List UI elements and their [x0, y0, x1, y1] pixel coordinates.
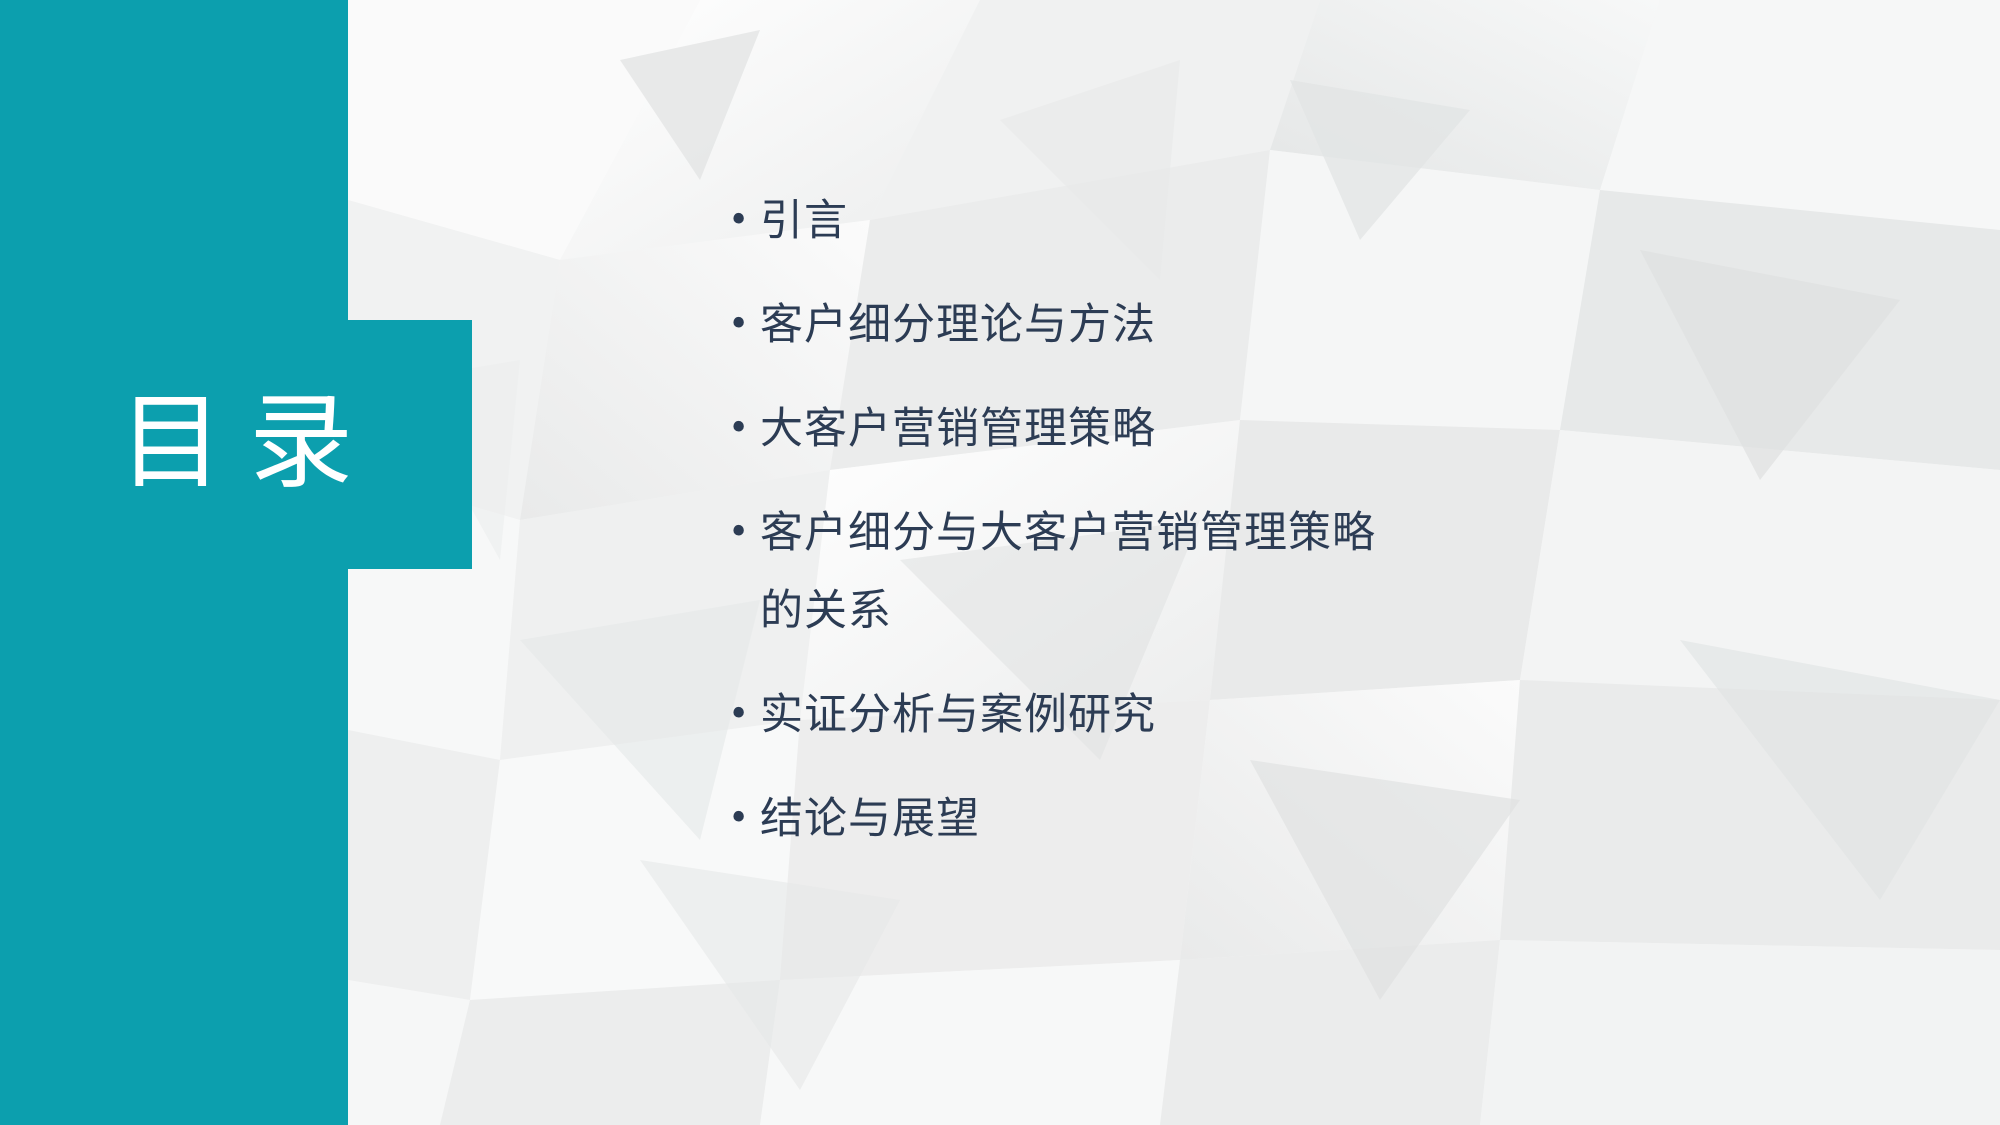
- bullet-icon: •: [728, 676, 760, 754]
- bullet-icon: •: [728, 286, 760, 364]
- bullet-icon: •: [728, 182, 760, 260]
- toc-item[interactable]: • 客户细分理论与方法: [728, 286, 1408, 364]
- toc-item[interactable]: • 结论与展望: [728, 780, 1408, 858]
- page-title-text: 目录: [93, 390, 379, 494]
- toc-item-label: 引言: [760, 182, 1408, 260]
- toc-item[interactable]: • 客户细分与大客户营销管理策略的关系: [728, 494, 1408, 650]
- table-of-contents: • 引言 • 客户细分理论与方法 • 大客户营销管理策略 • 客户细分与大客户营…: [728, 182, 1408, 884]
- toc-item-label: 客户细分与大客户营销管理策略的关系: [760, 494, 1408, 650]
- toc-item-label: 客户细分理论与方法: [760, 286, 1408, 364]
- toc-item[interactable]: • 引言: [728, 182, 1408, 260]
- toc-item-label: 实证分析与案例研究: [760, 676, 1408, 754]
- toc-item-label: 大客户营销管理策略: [760, 390, 1408, 468]
- page-title: 目录: [0, 352, 472, 532]
- accent-sidebar: [0, 0, 348, 1125]
- bullet-icon: •: [728, 390, 760, 468]
- bullet-icon: •: [728, 494, 760, 572]
- toc-item[interactable]: • 大客户营销管理策略: [728, 390, 1408, 468]
- toc-item-label: 结论与展望: [760, 780, 1408, 858]
- bullet-icon: •: [728, 780, 760, 858]
- toc-item[interactable]: • 实证分析与案例研究: [728, 676, 1408, 754]
- slide-canvas: 目录 • 引言 • 客户细分理论与方法 • 大客户营销管理策略 • 客户细分与大…: [0, 0, 2000, 1125]
